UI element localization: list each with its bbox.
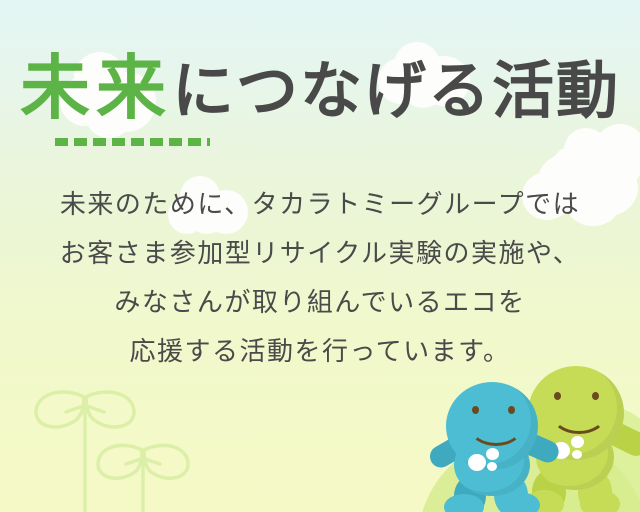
blue-mascot-spot-1 — [468, 454, 486, 471]
blue-mascot-foot-right — [498, 492, 540, 512]
title-block: 未来につなげる活動 — [0, 52, 640, 126]
cloud-title-right — [552, 124, 640, 186]
body-copy: 未来のために、タカラトミーグループでは お客さま参加型リサイクル実験の実施や、 … — [0, 181, 640, 377]
blue-mascot-mouth — [469, 408, 523, 446]
title-accent-text: 未来 — [20, 47, 172, 129]
page-title: 未来につなげる活動 — [0, 52, 640, 126]
title-rest-text: につなげる活動 — [172, 54, 620, 127]
body-line-2: お客さま参加型リサイクル実験の実施や、 — [0, 230, 640, 279]
body-line-1: 未来のために、タカラトミーグループでは — [0, 181, 640, 230]
green-mascot-spot-2 — [571, 436, 584, 448]
blue-mascot-spot-2 — [486, 448, 499, 460]
green-mascot-foot-right — [580, 490, 620, 512]
ribbon-decoration — [0, 372, 210, 512]
eco-activity-banner: 未来につなげる活動 未来のために、タカラトミーグループでは お客さま参加型リサイ… — [0, 0, 640, 512]
title-dashed-underline — [55, 138, 210, 146]
body-line-3: みなさんが取り組んでいるエコを — [0, 279, 640, 328]
green-mascot-spot-3 — [572, 450, 582, 459]
blue-mascot-spot-3 — [487, 462, 497, 471]
blue-mascot — [428, 382, 568, 512]
